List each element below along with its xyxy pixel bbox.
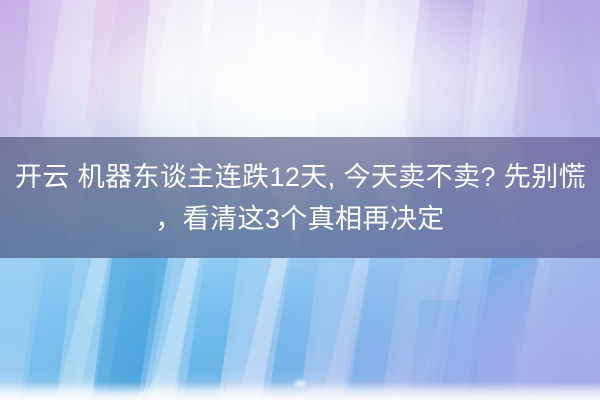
caption-line-1: 开云 机器东谈主连跌12天, 今天卖不卖? 先别慌	[14, 156, 586, 198]
cover-image: 开云 机器东谈主连跌12天, 今天卖不卖? 先别慌 ，看清这3个真相再决定	[0, 0, 600, 400]
caption-line-2: ，看清这3个真相再决定	[14, 198, 586, 240]
background-light-speck	[292, 378, 308, 389]
caption-text-block: 开云 机器东谈主连跌12天, 今天卖不卖? 先别慌 ，看清这3个真相再决定	[0, 137, 600, 258]
